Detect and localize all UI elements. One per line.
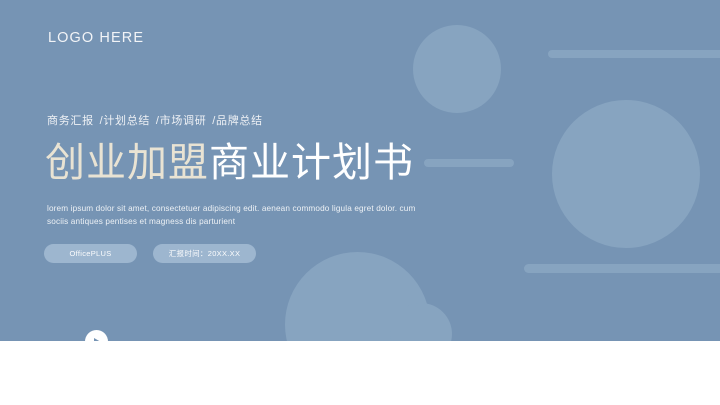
tag-item-1: 商务汇报 [47, 115, 94, 127]
tag-line: 商务汇报 /计划总结 /市场调研 /品牌总结 [47, 112, 265, 128]
tag-item-2: /计划总结 [100, 115, 151, 127]
decorative-circle-bottom-left [390, 303, 452, 341]
tag-item-4: /品牌总结 [212, 115, 263, 127]
logo-text: LOGO HERE [48, 30, 144, 46]
decorative-circle-bottom-mid [285, 252, 430, 341]
page-title: 创业加盟商业计划书 [45, 139, 414, 187]
decorative-bar-small-left [424, 159, 514, 167]
hero-panel: LOGO HERE 商务汇报 /计划总结 /市场调研 /品牌总结 创业加盟商业计… [0, 0, 720, 341]
decorative-bar-top-right [548, 50, 720, 58]
decorative-circle-mid-right [552, 100, 700, 248]
slide-canvas: LOGO HERE 商务汇报 /计划总结 /市场调研 /品牌总结 创业加盟商业计… [0, 0, 720, 405]
pill-report-date[interactable]: 汇报时间：20XX.XX [153, 244, 256, 263]
bottom-nav-bar: Overview knowledge information counterme… [0, 341, 720, 405]
pill-group: OfficePLUS 汇报时间：20XX.XX [44, 244, 256, 263]
decorative-bar-mid-right [524, 264, 720, 273]
body-paragraph: lorem ipsum dolor sit amet, consectetuer… [47, 202, 419, 228]
decorative-circle-top-left [413, 25, 501, 113]
page-title-plain: 商业计划书 [209, 141, 414, 185]
page-title-accent: 创业加盟 [45, 141, 209, 185]
pill-officeplus[interactable]: OfficePLUS [44, 244, 137, 263]
tag-item-3: /市场调研 [156, 115, 207, 127]
